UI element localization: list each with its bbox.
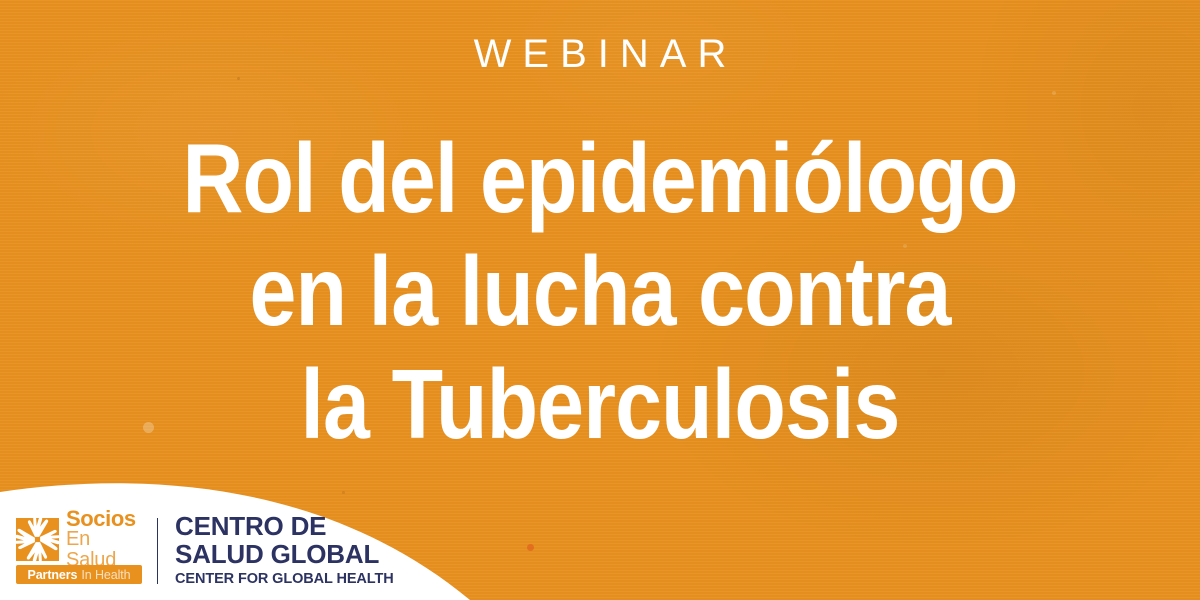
webinar-banner: WEBINAR Rol del epidemiólogo en la lucha… <box>0 0 1200 600</box>
background-speck <box>237 77 240 80</box>
headline-line-3: la Tuberculosis <box>84 348 1116 461</box>
socios-en-salud-name-line-1: Socios <box>66 508 142 529</box>
socios-en-salud-wordmark: Socios En Salud <box>66 508 142 572</box>
page-title: Rol del epidemiólogo en la lucha contra … <box>84 122 1116 461</box>
cgh-line-2: SALUD GLOBAL <box>175 540 394 568</box>
lockup-divider <box>157 518 158 584</box>
background-speck <box>1052 91 1056 95</box>
socios-en-salud-primary-row: Socios En Salud <box>16 518 142 561</box>
socios-en-salud-logo[interactable]: Socios En Salud Partners In Health <box>16 518 142 584</box>
headline-line-1: Rol del epidemiólogo <box>84 122 1116 235</box>
background-speck <box>342 491 345 494</box>
tagline-in-health: In Health <box>81 568 130 582</box>
partners-in-health-tagline-bar: Partners In Health <box>16 565 142 584</box>
tagline-partners: Partners <box>27 568 77 582</box>
cgh-line-3: CENTER FOR GLOBAL HEALTH <box>175 568 394 589</box>
background-speck <box>527 544 534 551</box>
socios-en-salud-hands-mark-icon <box>16 518 59 561</box>
kicker-label: WEBINAR <box>0 34 1200 74</box>
footer-logo-lockup: Socios En Salud Partners In Health CENTR… <box>16 510 394 592</box>
centro-salud-global-logo[interactable]: CENTRO DE SALUD GLOBAL CENTER FOR GLOBAL… <box>175 512 394 591</box>
cgh-line-1: CENTRO DE <box>175 512 394 540</box>
headline-line-2: en la lucha contra <box>84 235 1116 348</box>
